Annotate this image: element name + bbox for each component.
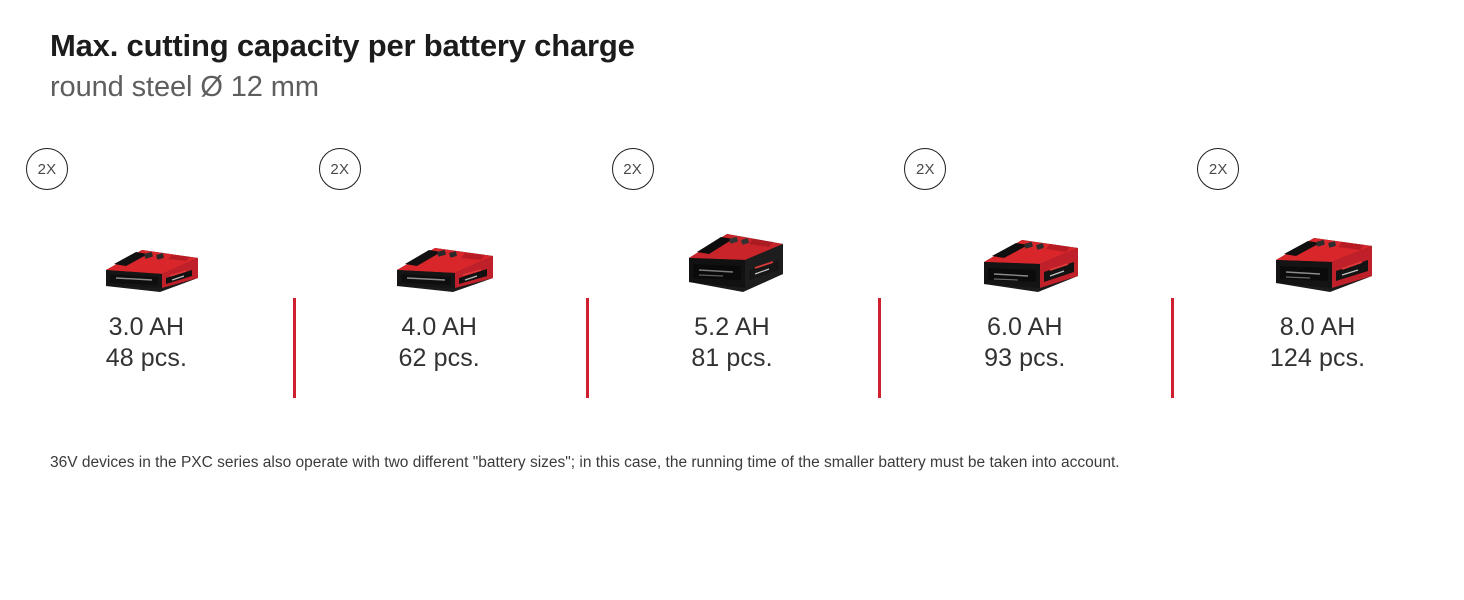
quantity-badge-label: 2X: [1209, 162, 1228, 177]
battery-labels: 3.0 AH 48 pcs.: [0, 312, 293, 374]
battery-column: 2X: [586, 146, 879, 406]
quantity-badge-label: 2X: [623, 162, 642, 177]
battery-column: 2X: [1171, 146, 1464, 406]
battery-capacity-label: 3.0 AH: [0, 312, 293, 343]
battery-column: 2X: [878, 146, 1171, 406]
battery-pack-3ah-icon: [0, 188, 293, 306]
battery-labels: 8.0 AH 124 pcs.: [1171, 312, 1464, 374]
quantity-badge-label: 2X: [38, 162, 57, 177]
quantity-badge-label: 2X: [916, 162, 935, 177]
battery-labels: 6.0 AH 93 pcs.: [878, 312, 1171, 374]
quantity-badge-wrap: 2X: [319, 148, 363, 192]
quantity-badge: 2X: [612, 148, 654, 190]
heading-block: Max. cutting capacity per battery charge…: [50, 26, 635, 106]
quantity-badge: 2X: [26, 148, 68, 190]
page-title: Max. cutting capacity per battery charge: [50, 26, 635, 66]
quantity-badge-wrap: 2X: [26, 148, 70, 192]
battery-pack-52ah-icon: [586, 188, 879, 306]
battery-pieces-label: 124 pcs.: [1171, 343, 1464, 374]
battery-capacity-label: 8.0 AH: [1171, 312, 1464, 343]
quantity-badge: 2X: [904, 148, 946, 190]
quantity-badge-wrap: 2X: [904, 148, 948, 192]
battery-labels: 5.2 AH 81 pcs.: [586, 312, 879, 374]
infographic-page: Max. cutting capacity per battery charge…: [0, 0, 1464, 600]
battery-column: 2X: [293, 146, 586, 406]
quantity-badge: 2X: [319, 148, 361, 190]
battery-column: 2X: [0, 146, 293, 406]
battery-capacity-label: 4.0 AH: [293, 312, 586, 343]
quantity-badge-wrap: 2X: [612, 148, 656, 192]
battery-pieces-label: 81 pcs.: [586, 343, 879, 374]
footnote-text: 36V devices in the PXC series also opera…: [50, 452, 1370, 473]
battery-labels: 4.0 AH 62 pcs.: [293, 312, 586, 374]
battery-pack-8ah-icon: [1171, 188, 1464, 306]
battery-comparison-row: 2X: [0, 146, 1464, 406]
quantity-badge-label: 2X: [330, 162, 349, 177]
battery-pieces-label: 62 pcs.: [293, 343, 586, 374]
page-subtitle: round steel Ø 12 mm: [50, 68, 635, 106]
battery-pack-4ah-icon: [293, 188, 586, 306]
battery-capacity-label: 6.0 AH: [878, 312, 1171, 343]
quantity-badge: 2X: [1197, 148, 1239, 190]
battery-pieces-label: 93 pcs.: [878, 343, 1171, 374]
battery-pieces-label: 48 pcs.: [0, 343, 293, 374]
quantity-badge-wrap: 2X: [1197, 148, 1241, 192]
battery-pack-6ah-icon: [878, 188, 1171, 306]
battery-capacity-label: 5.2 AH: [586, 312, 879, 343]
